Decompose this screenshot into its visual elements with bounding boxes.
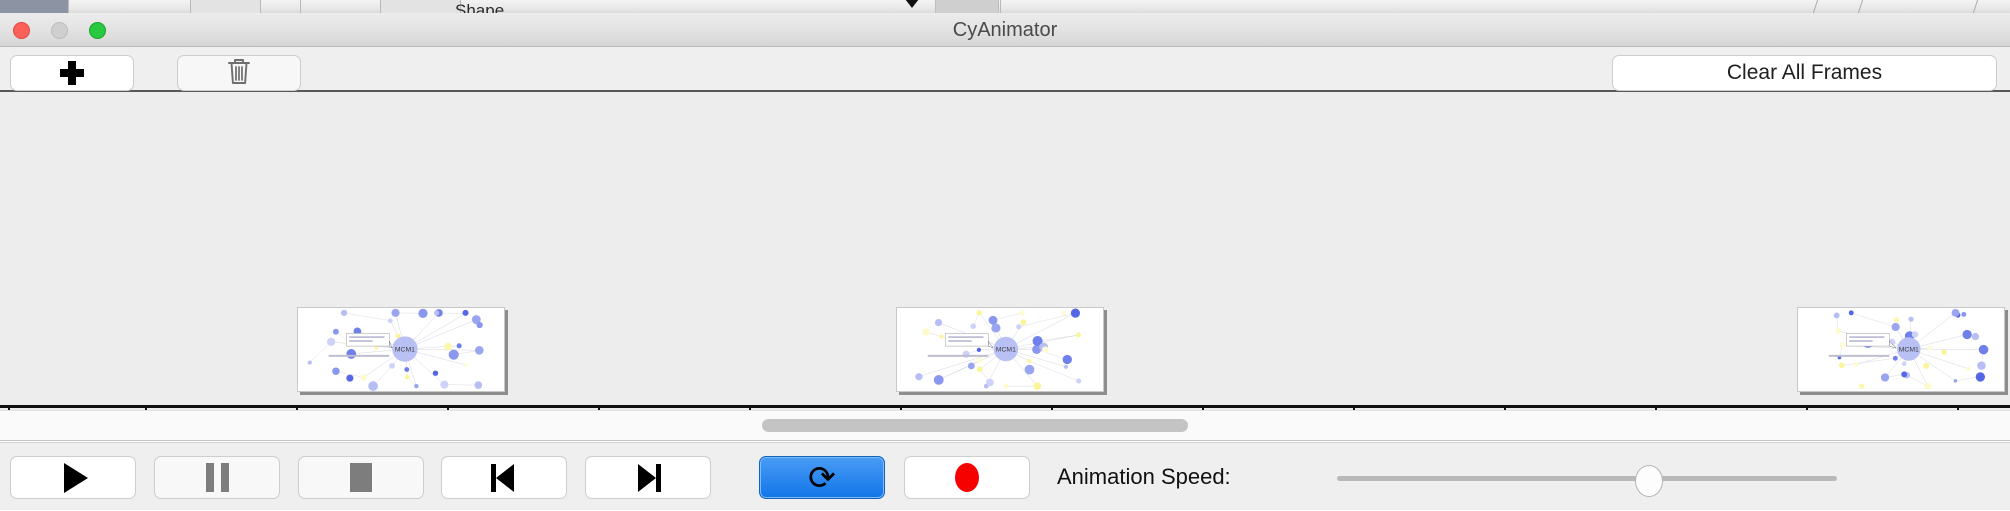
background-window-selected-cell xyxy=(0,0,68,13)
scrollbar-thumb[interactable] xyxy=(762,419,1188,432)
loop-button[interactable]: ⟳ xyxy=(759,456,885,499)
record-button[interactable] xyxy=(904,456,1030,499)
play-button[interactable] xyxy=(10,456,136,499)
trash-icon xyxy=(226,56,252,91)
timeline-frame-thumbnail[interactable]: MCM1 xyxy=(896,307,1104,392)
first-frame-button[interactable] xyxy=(441,456,567,499)
loop-icon: ⟳ xyxy=(808,461,836,494)
background-window-tick xyxy=(1813,0,1818,13)
animation-speed-slider-thumb[interactable] xyxy=(1635,465,1663,497)
background-window-divider xyxy=(260,0,261,13)
svg-text:MCM1: MCM1 xyxy=(395,347,415,354)
clear-all-frames-button[interactable]: Clear All Frames xyxy=(1612,55,1997,91)
timeline-ruler-axis xyxy=(0,405,2010,408)
toolbar: Clear All Frames xyxy=(0,47,2010,92)
background-window-divider xyxy=(190,0,191,13)
animation-speed-label: Animation Speed: xyxy=(1057,443,1231,511)
skip-to-start-icon xyxy=(489,463,519,493)
background-window-cell xyxy=(190,0,260,13)
stop-button[interactable] xyxy=(298,456,424,499)
svg-text:MCM1: MCM1 xyxy=(996,347,1016,354)
timeline-panel[interactable]: MCM1 MCM1 MCM1 2131415161718 Seconds xyxy=(0,92,2010,410)
record-icon xyxy=(955,463,979,492)
last-frame-button[interactable] xyxy=(585,456,711,499)
background-window-label: Shape xyxy=(455,1,504,13)
clear-all-frames-label: Clear All Frames xyxy=(1727,61,1882,85)
network-graph-thumbnail: MCM1 xyxy=(1798,308,2004,391)
pause-button[interactable] xyxy=(154,456,280,499)
background-window-tick xyxy=(1858,0,1863,13)
play-icon xyxy=(64,463,88,493)
background-window-divider xyxy=(1000,0,1001,13)
network-graph-thumbnail: MCM1 xyxy=(298,308,504,391)
background-window-cell xyxy=(380,0,460,13)
timeline-frame-thumbnail[interactable]: MCM1 xyxy=(1797,307,2005,392)
timeline-horizontal-scrollbar[interactable] xyxy=(0,410,2010,441)
background-window-bar xyxy=(935,0,999,13)
window-titlebar: CyAnimator xyxy=(0,13,2010,47)
skip-to-end-icon xyxy=(633,463,663,493)
background-window-sort-arrow-icon xyxy=(905,0,919,8)
background-window-divider xyxy=(300,0,301,13)
delete-frame-button[interactable] xyxy=(177,55,301,91)
background-window-tick xyxy=(1973,0,1978,13)
window-title: CyAnimator xyxy=(0,13,2010,47)
background-window-strip: Shape xyxy=(0,0,2010,13)
svg-text:MCM1: MCM1 xyxy=(1899,347,1919,354)
stop-icon xyxy=(350,463,372,492)
playback-control-bar: ⟳ Animation Speed: xyxy=(0,442,2010,510)
add-frame-button[interactable] xyxy=(10,55,134,91)
timeline-frame-thumbnail[interactable]: MCM1 xyxy=(297,307,505,392)
network-graph-thumbnail: MCM1 xyxy=(897,308,1103,391)
plus-icon xyxy=(60,61,84,85)
pause-icon xyxy=(206,463,229,492)
animation-speed-slider[interactable] xyxy=(1337,476,1837,481)
background-window-divider xyxy=(380,0,381,13)
background-window-divider xyxy=(68,0,69,13)
